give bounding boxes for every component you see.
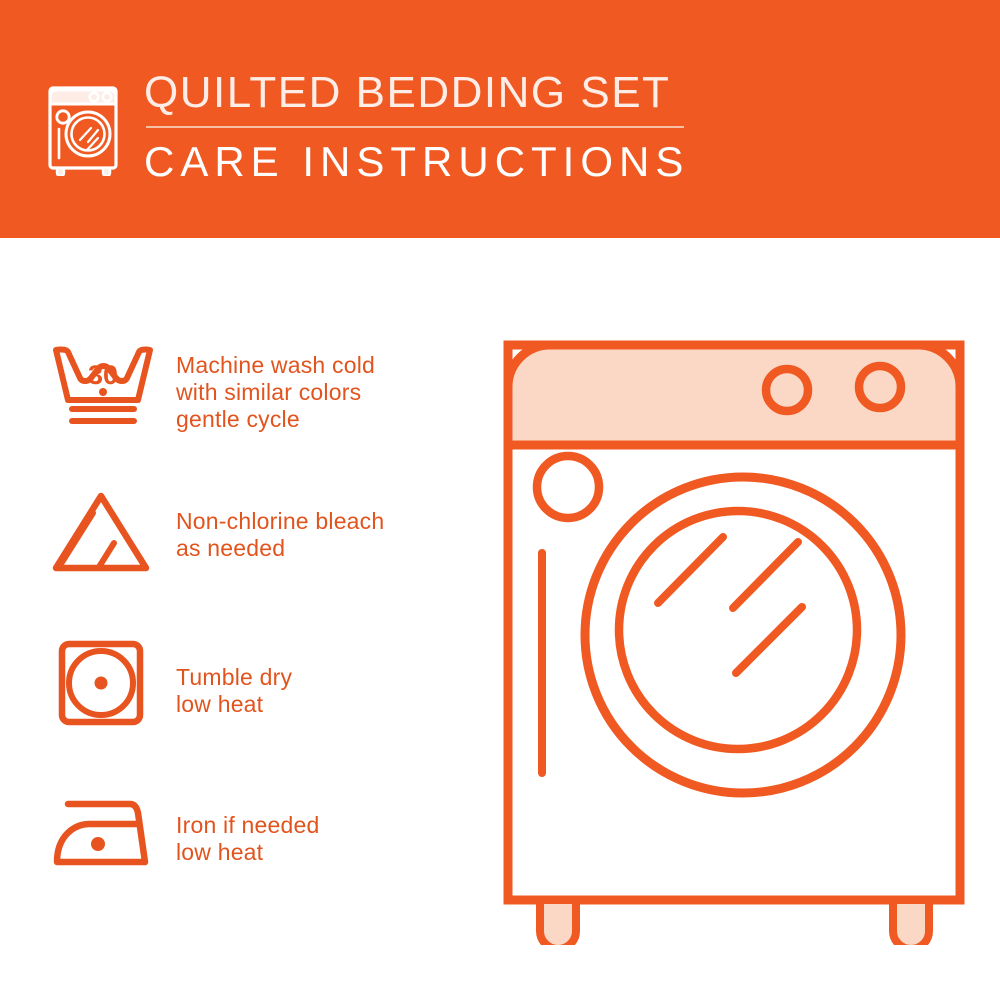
large-washing-machine-illustration	[480, 315, 990, 945]
list-item-text: Iron if needed low heat	[176, 786, 319, 866]
instruction-line-1: Machine wash cold	[176, 352, 375, 379]
washing-machine-icon	[44, 72, 130, 176]
tumble-dry-low-heat-icon	[46, 636, 176, 728]
list-item: Tumble dry low heat	[46, 636, 476, 728]
door-inner-ring	[619, 511, 857, 749]
wash-tub-30-gentle-icon: 30	[46, 338, 176, 430]
leg-right	[893, 900, 929, 945]
header-title-group: QUILTED BEDDING SET CARE INSTRUCTIONS	[144, 68, 704, 186]
title-divider	[146, 126, 684, 128]
care-instructions-page: QUILTED BEDDING SET CARE INSTRUCTIONS 30…	[0, 0, 1000, 1000]
list-item-text: Tumble dry low heat	[176, 636, 292, 718]
leg-left	[540, 900, 576, 945]
list-item-text: Non-chlorine bleach as needed	[176, 486, 384, 562]
instruction-line-2: low heat	[176, 839, 319, 866]
svg-text:30: 30	[88, 360, 118, 390]
care-instruction-list: 30 Machine wash cold with similar colors…	[0, 238, 480, 1000]
knob-left	[766, 369, 808, 411]
iron-low-heat-icon	[46, 786, 176, 878]
instruction-line-1: Iron if needed	[176, 812, 319, 839]
list-item-text: Machine wash cold with similar colors ge…	[176, 338, 375, 433]
instruction-line-2: as needed	[176, 535, 384, 562]
page-title: QUILTED BEDDING SET	[144, 68, 704, 118]
header-banner: QUILTED BEDDING SET CARE INSTRUCTIONS	[0, 0, 1000, 238]
indicator-button	[537, 456, 599, 518]
page-subtitle: CARE INSTRUCTIONS	[144, 138, 704, 186]
instruction-line-1: Tumble dry	[176, 664, 292, 691]
instruction-line-2: with similar colors	[176, 379, 375, 406]
non-chlorine-bleach-triangle-icon	[46, 486, 176, 578]
list-item: Non-chlorine bleach as needed	[46, 486, 476, 578]
instruction-line-1: Non-chlorine bleach	[176, 508, 384, 535]
instruction-line-3: gentle cycle	[176, 406, 375, 433]
list-item: 30 Machine wash cold with similar colors…	[46, 338, 476, 433]
list-item: Iron if needed low heat	[46, 786, 476, 878]
knob-right	[859, 366, 901, 408]
instruction-line-2: low heat	[176, 691, 292, 718]
